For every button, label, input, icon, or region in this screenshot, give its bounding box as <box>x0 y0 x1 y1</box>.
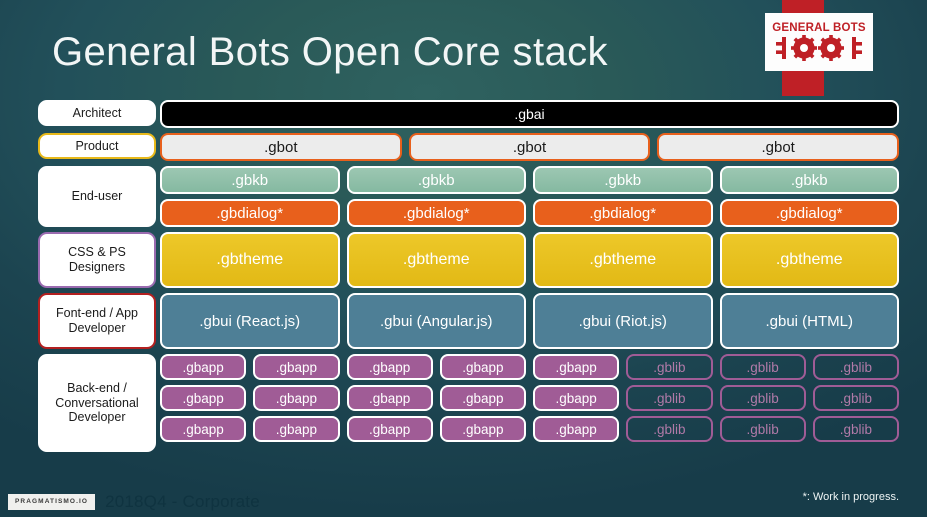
cell-gbapp: .gbapp <box>347 354 433 380</box>
general-bots-logo: GENERAL BOTS <box>765 13 873 71</box>
cell-gbot: .gbot <box>657 133 899 161</box>
cell-gblib: .gblib <box>813 385 899 411</box>
cell-gblib: .gblib <box>720 385 806 411</box>
cell-gbkb: .gbkb <box>160 166 340 194</box>
cell-gbtheme: .gbtheme <box>160 232 340 288</box>
lanes-frontend: .gbui (React.js) .gbui (Angular.js) .gbu… <box>160 293 927 349</box>
lanes-end-user: .gbkb .gbkb .gbkb .gbkb .gbdialog* .gbdi… <box>160 166 927 227</box>
row-designers: CSS & PS Designers .gbtheme .gbtheme .gb… <box>0 232 927 288</box>
rail-end-user-slot: End-user <box>0 166 160 227</box>
row-backend-developer: Back-end / Conversational Developer .gba… <box>0 354 927 452</box>
cell-gbapp: .gbapp <box>347 385 433 411</box>
cell-gblib: .gblib <box>626 354 712 380</box>
cell-gblib: .gblib <box>720 416 806 442</box>
row-product: Product .gbot .gbot .gbot <box>0 133 927 161</box>
rail-item-css-ps-designers: CSS & PS Designers <box>38 232 156 288</box>
rail-item-architect: Architect <box>38 100 156 126</box>
cell-gbapp: .gbapp <box>253 416 339 442</box>
cell-gblib: .gblib <box>813 416 899 442</box>
footer-caption: 2018Q4 - Corporate <box>105 492 260 512</box>
cell-gblib: .gblib <box>720 354 806 380</box>
row-architect: Architect .gbai <box>0 100 927 128</box>
cell-gbot: .gbot <box>160 133 402 161</box>
cell-gbapp: .gbapp <box>440 385 526 411</box>
cell-gbapp: .gbapp <box>533 354 619 380</box>
lanes-backend: .gbapp .gbapp .gbapp .gbapp .gbapp .gbli… <box>160 354 927 452</box>
rail-item-front-end-app-developer: Font-end / App Developer <box>38 293 156 349</box>
cell-gbkb: .gbkb <box>347 166 527 194</box>
rail-item-product: Product <box>38 133 156 159</box>
slide-canvas: GENERAL BOTS <box>0 0 927 517</box>
lane-gbot: .gbot .gbot .gbot <box>160 133 899 161</box>
lane-gbtheme: .gbtheme .gbtheme .gbtheme .gbtheme <box>160 232 899 288</box>
page-title: General Bots Open Core stack <box>52 30 608 75</box>
stack-diagram: Architect .gbai Product .gbot .gbot .gbo… <box>0 100 927 457</box>
cell-gbapp: .gbapp <box>440 416 526 442</box>
logo-brand-text: GENERAL BOTS <box>772 23 866 35</box>
cell-gbui: .gbui (HTML) <box>720 293 900 349</box>
lane-gbkb: .gbkb .gbkb .gbkb .gbkb <box>160 166 899 194</box>
cell-gbui: .gbui (React.js) <box>160 293 340 349</box>
lane-gbui: .gbui (React.js) .gbui (Angular.js) .gbu… <box>160 293 899 349</box>
cell-gbapp: .gbapp <box>253 354 339 380</box>
cell-gblib: .gblib <box>813 354 899 380</box>
cell-gblib: .gblib <box>626 416 712 442</box>
row-end-user: End-user .gbkb .gbkb .gbkb .gbkb .gbdial… <box>0 166 927 227</box>
lanes-product: .gbot .gbot .gbot <box>160 133 927 161</box>
lanes-architect: .gbai <box>160 100 927 128</box>
row-frontend-developer: Font-end / App Developer .gbui (React.js… <box>0 293 927 349</box>
cell-gbapp: .gbapp <box>533 385 619 411</box>
cell-gbdialog: .gbdialog* <box>720 199 900 227</box>
lane-gbapp-gblib: .gbapp .gbapp .gbapp .gbapp .gbapp .gbli… <box>160 385 899 411</box>
cell-gbapp: .gbapp <box>160 385 246 411</box>
cell-gbkb: .gbkb <box>720 166 900 194</box>
rail-item-back-end-conversational-developer: Back-end / Conversational Developer <box>38 354 156 452</box>
rail-designers-slot: CSS & PS Designers <box>0 232 160 288</box>
lane-gbapp-gblib: .gbapp .gbapp .gbapp .gbapp .gbapp .gbli… <box>160 354 899 380</box>
rail-frontend-slot: Font-end / App Developer <box>0 293 160 349</box>
cell-gbapp: .gbapp <box>533 416 619 442</box>
cell-gbai: .gbai <box>160 100 899 128</box>
footer-work-in-progress-note: *: Work in progress. <box>803 491 899 503</box>
cell-gbtheme: .gbtheme <box>347 232 527 288</box>
cell-gbkb: .gbkb <box>533 166 713 194</box>
cell-gbui: .gbui (Angular.js) <box>347 293 527 349</box>
lane-gbapp-gblib: .gbapp .gbapp .gbapp .gbapp .gbapp .gbli… <box>160 416 899 442</box>
pragmatismo-logo: PRAGMATISMO.IO <box>8 494 95 511</box>
cell-gbdialog: .gbdialog* <box>160 199 340 227</box>
cell-gbtheme: .gbtheme <box>720 232 900 288</box>
cell-gbapp: .gbapp <box>347 416 433 442</box>
cell-gbapp: .gbapp <box>160 416 246 442</box>
cell-gbtheme: .gbtheme <box>533 232 713 288</box>
cell-gbdialog: .gbdialog* <box>347 199 527 227</box>
cell-gbapp: .gbapp <box>253 385 339 411</box>
cell-gbdialog: .gbdialog* <box>533 199 713 227</box>
cell-gblib: .gblib <box>626 385 712 411</box>
lanes-designers: .gbtheme .gbtheme .gbtheme .gbtheme <box>160 232 927 288</box>
rail-item-end-user: End-user <box>38 166 156 227</box>
footer-left: PRAGMATISMO.IO 2018Q4 - Corporate <box>8 492 260 512</box>
cell-gbui: .gbui (Riot.js) <box>533 293 713 349</box>
rail-backend-slot: Back-end / Conversational Developer <box>0 354 160 452</box>
lane-gbdialog: .gbdialog* .gbdialog* .gbdialog* .gbdial… <box>160 199 899 227</box>
two-gears-between-bars-icon <box>776 35 862 61</box>
cell-gbot: .gbot <box>409 133 651 161</box>
rail-product-slot: Product <box>0 133 160 161</box>
cell-gbapp: .gbapp <box>440 354 526 380</box>
cell-gbapp: .gbapp <box>160 354 246 380</box>
rail-architect-slot: Architect <box>0 100 160 128</box>
lane-gbai: .gbai <box>160 100 899 128</box>
